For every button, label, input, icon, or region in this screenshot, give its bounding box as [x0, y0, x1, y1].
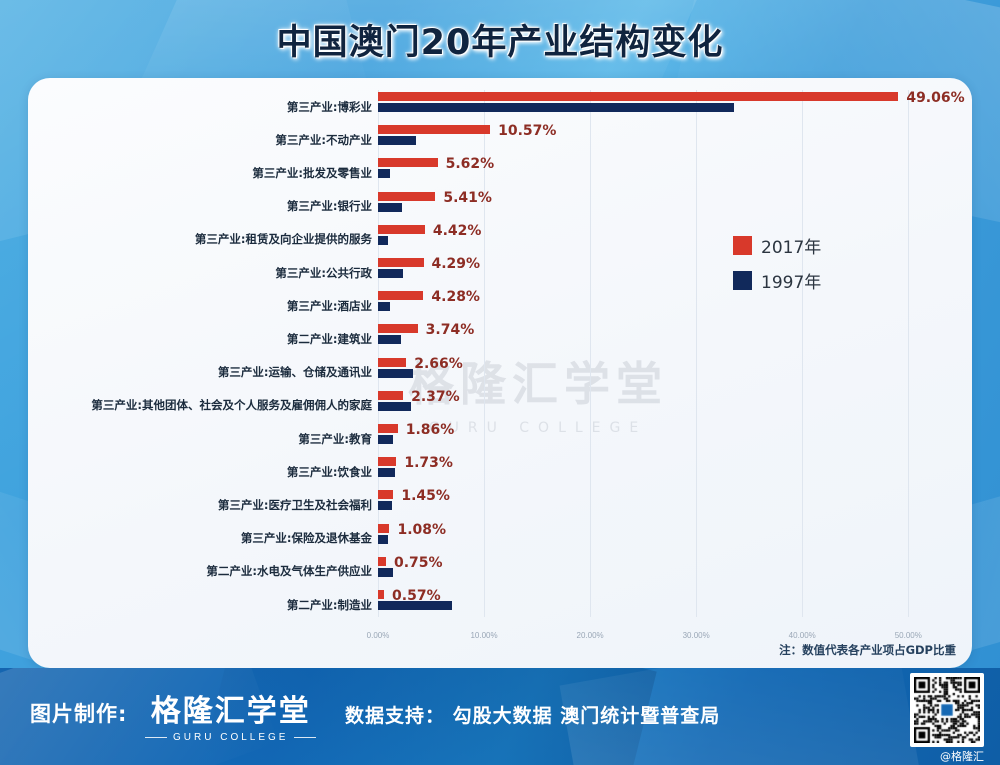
x-axis-tick-label: 10.00%	[470, 631, 497, 640]
bar-1997	[378, 402, 411, 411]
bar-1997	[378, 535, 388, 544]
value-label: 0.75%	[394, 555, 443, 571]
value-label: 1.86%	[406, 422, 455, 438]
value-label: 1.73%	[404, 455, 453, 471]
value-label: 49.06%	[906, 90, 964, 106]
chart-row: 第三产业:教育1.86%	[378, 422, 938, 455]
qr-code-block[interactable]: @格隆汇	[910, 673, 984, 764]
bar-2017	[378, 524, 389, 533]
category-label: 第三产业:银行业	[287, 198, 372, 214]
value-label: 4.42%	[433, 223, 482, 239]
category-label: 第三产业:饮食业	[287, 464, 372, 480]
bar-1997	[378, 302, 390, 311]
chart-row: 第三产业:酒店业4.28%	[378, 289, 938, 322]
plot-area: 0.00%10.00%20.00%30.00%40.00%50.00%第三产业:…	[378, 90, 938, 625]
value-label: 2.37%	[411, 389, 460, 405]
bar-2017	[378, 424, 398, 433]
bar-1997	[378, 136, 416, 145]
chart-legend: 2017年1997年	[733, 233, 821, 303]
chart-row: 第三产业:银行业5.41%	[378, 190, 938, 223]
legend-item[interactable]: 2017年	[733, 233, 821, 258]
rule-line-right	[294, 737, 316, 738]
value-label: 4.29%	[432, 256, 481, 272]
category-label: 第三产业:租赁及向企业提供的服务	[195, 231, 372, 247]
bar-1997	[378, 203, 402, 212]
category-label: 第二产业:水电及气体生产供应业	[206, 563, 372, 579]
category-label: 第三产业:批发及零售业	[252, 165, 372, 181]
bar-2017	[378, 457, 396, 466]
value-label: 10.57%	[498, 123, 556, 139]
value-label: 3.74%	[426, 322, 475, 338]
legend-swatch-icon	[733, 236, 752, 255]
x-axis-tick-label: 30.00%	[683, 631, 710, 640]
bar-2017	[378, 590, 384, 599]
bar-2017	[378, 92, 898, 101]
chart-title: 中国澳门20年产业结构变化	[0, 14, 1000, 65]
legend-swatch-icon	[733, 271, 752, 290]
bar-1997	[378, 335, 401, 344]
brand-logo: 格隆汇学堂 GURU COLLEGE	[145, 686, 316, 743]
x-axis-tick-label: 50.00%	[895, 631, 922, 640]
bar-2017	[378, 125, 490, 134]
value-label: 0.57%	[392, 588, 441, 604]
value-label: 4.28%	[431, 289, 480, 305]
chart-row: 第三产业:批发及零售业5.62%	[378, 156, 938, 189]
chart-row: 第三产业:饮食业1.73%	[378, 455, 938, 488]
x-axis-tick-label: 0.00%	[367, 631, 390, 640]
bar-2017	[378, 258, 424, 267]
bar-2017	[378, 192, 435, 201]
bar-1997	[378, 435, 393, 444]
qr-code-icon[interactable]	[910, 673, 984, 747]
brand-rule: GURU COLLEGE	[145, 732, 316, 743]
bar-2017	[378, 324, 418, 333]
bar-1997	[378, 369, 413, 378]
bar-1997	[378, 269, 403, 278]
bar-2017	[378, 158, 438, 167]
footer-bar: 图片制作: 格隆汇学堂 GURU COLLEGE 数据支持： 勾股大数据 澳门统…	[0, 668, 1000, 765]
bar-2017	[378, 490, 393, 499]
chart-row: 第三产业:不动产业10.57%	[378, 123, 938, 156]
value-label: 1.45%	[401, 488, 450, 504]
chart-row: 第三产业:其他团体、社会及个人服务及雇佣佣人的家庭2.37%	[378, 389, 938, 422]
bar-2017	[378, 225, 425, 234]
chart-footnote: 注：数值代表各产业项占GDP比重	[779, 642, 956, 658]
x-axis-tick-label: 20.00%	[577, 631, 604, 640]
category-label: 第二产业:制造业	[287, 597, 372, 613]
rule-line-left	[145, 737, 167, 738]
chart-row: 第三产业:医疗卫生及社会福利1.45%	[378, 488, 938, 521]
bar-1997	[378, 103, 734, 112]
x-axis-tick-label: 40.00%	[789, 631, 816, 640]
category-label: 第三产业:博彩业	[287, 99, 372, 115]
bar-2017	[378, 291, 423, 300]
category-label: 第三产业:保险及退休基金	[241, 530, 372, 546]
value-label: 2.66%	[414, 356, 463, 372]
chart-row: 第二产业:制造业0.57%	[378, 588, 938, 621]
social-handle: @格隆汇	[910, 748, 984, 764]
bar-1997	[378, 468, 395, 477]
chart-row: 第三产业:博彩业49.06%	[378, 90, 938, 123]
maker-label: 图片制作:	[30, 698, 127, 728]
category-label: 第三产业:教育	[298, 431, 372, 447]
bar-1997	[378, 568, 393, 577]
legend-item[interactable]: 1997年	[733, 268, 821, 293]
chart-row: 第三产业:公共行政4.29%	[378, 256, 938, 289]
chart-row: 第二产业:水电及气体生产供应业0.75%	[378, 555, 938, 588]
category-label: 第三产业:公共行政	[275, 265, 372, 281]
chart-row: 第三产业:保险及退休基金1.08%	[378, 522, 938, 555]
bar-2017	[378, 391, 403, 400]
bar-1997	[378, 501, 392, 510]
bar-1997	[378, 169, 390, 178]
brand-name-en: GURU COLLEGE	[173, 732, 288, 743]
legend-label: 1997年	[761, 268, 821, 293]
legend-label: 2017年	[761, 233, 821, 258]
chart-row: 第三产业:运输、仓储及通讯业2.66%	[378, 356, 938, 389]
chart-row: 第二产业:建筑业3.74%	[378, 322, 938, 355]
category-label: 第二产业:建筑业	[287, 331, 372, 347]
bar-1997	[378, 236, 388, 245]
category-label: 第三产业:其他团体、社会及个人服务及雇佣佣人的家庭	[91, 397, 372, 413]
category-label: 第三产业:运输、仓储及通讯业	[218, 364, 372, 380]
data-source-label: 数据支持： 勾股大数据 澳门统计暨普查局	[345, 701, 720, 728]
bar-2017	[378, 557, 386, 566]
brand-name-cn: 格隆汇学堂	[145, 686, 316, 730]
value-label: 5.62%	[446, 156, 495, 172]
chart-card: 格隆汇学堂 GURU COLLEGE 0.00%10.00%20.00%30.0…	[28, 78, 972, 668]
infographic-root: 中国澳门20年产业结构变化 格隆汇学堂 GURU COLLEGE 0.00%10…	[0, 0, 1000, 765]
value-label: 5.41%	[443, 190, 492, 206]
category-label: 第三产业:酒店业	[287, 298, 372, 314]
bar-2017	[378, 358, 406, 367]
category-label: 第三产业:不动产业	[275, 132, 372, 148]
chart-row: 第三产业:租赁及向企业提供的服务4.42%	[378, 223, 938, 256]
category-label: 第三产业:医疗卫生及社会福利	[218, 497, 372, 513]
value-label: 1.08%	[397, 522, 446, 538]
